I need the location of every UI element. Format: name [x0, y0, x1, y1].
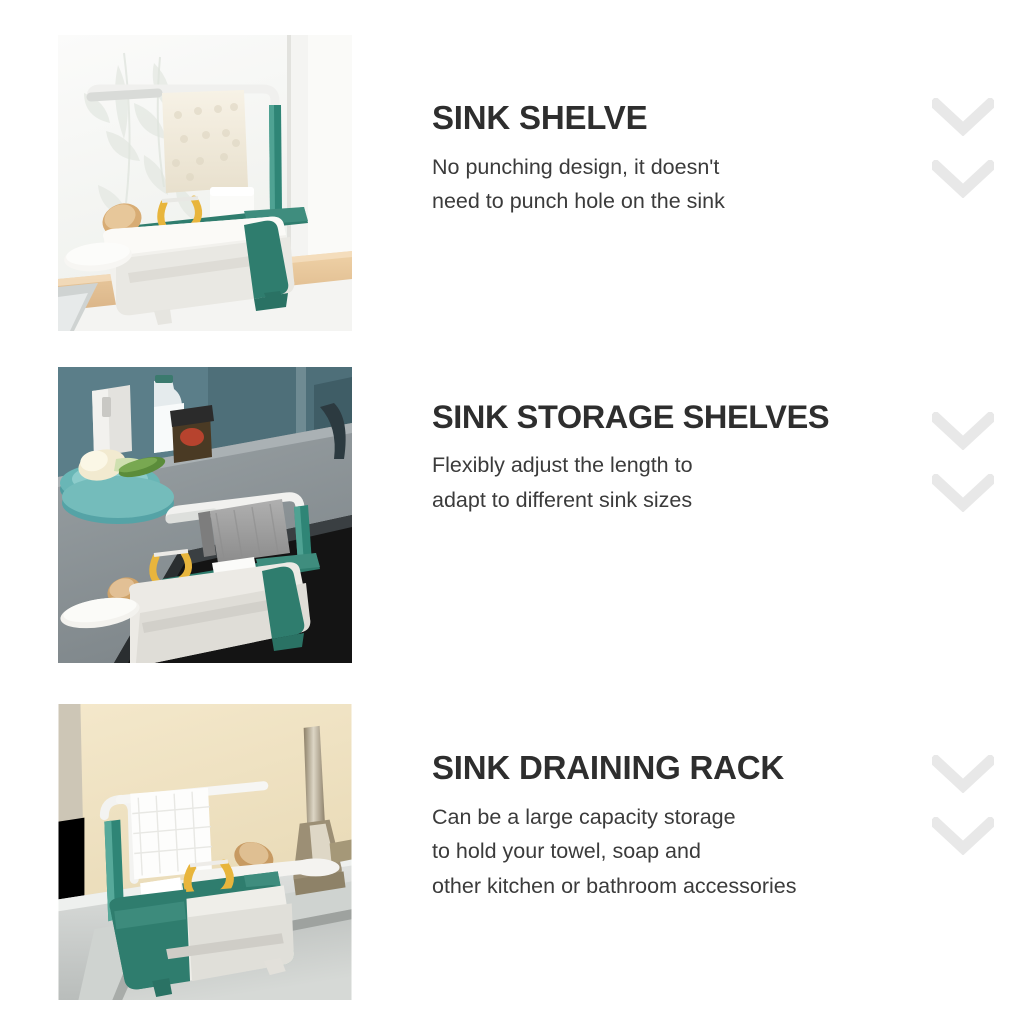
feature-desc-1: No punching design, it doesn't need to p…	[432, 150, 922, 220]
feature-row-3: SINK DRAINING RACK Can be a large capaci…	[0, 704, 1024, 1001]
feature-text-3: SINK DRAINING RACK Can be a large capaci…	[432, 704, 922, 904]
feature-text-2: SINK STORAGE SHELVES Flexibly adjust the…	[432, 367, 922, 518]
desc-line: No punching design, it doesn't	[432, 150, 922, 185]
desc-line: Flexibly adjust the length to	[432, 448, 922, 483]
chevron-down-icon	[932, 474, 994, 512]
desc-line: other kitchen or bathroom accessories	[432, 869, 922, 904]
chevron-group-2	[932, 412, 994, 512]
sink-storage-shelves-counter-photo	[58, 367, 352, 663]
desc-line: adapt to different sink sizes	[432, 483, 922, 518]
feature-desc-2: Flexibly adjust the length to adapt to d…	[432, 448, 922, 518]
sink-draining-rack-steel-sink-photo	[58, 704, 352, 1000]
feature-title-1: SINK SHELVE	[432, 101, 922, 136]
feature-title-2: SINK STORAGE SHELVES	[432, 400, 922, 434]
chevron-down-icon	[932, 98, 994, 136]
chevron-down-icon	[932, 755, 994, 793]
feature-text-1: SINK SHELVE No punching design, it doesn…	[432, 35, 922, 219]
feature-title-3: SINK DRAINING RACK	[432, 751, 922, 786]
feature-desc-3: Can be a large capacity storage to hold …	[432, 800, 922, 904]
chevron-group-3	[932, 755, 994, 855]
sink-shelve-window-photo	[58, 35, 352, 331]
chevron-down-icon	[932, 817, 994, 855]
chevron-down-icon	[932, 412, 994, 450]
product-infographic: SINK SHELVE No punching design, it doesn…	[0, 0, 1024, 1024]
desc-line: to hold your towel, soap and	[432, 834, 922, 869]
feature-row-1: SINK SHELVE No punching design, it doesn…	[0, 35, 1024, 331]
desc-line: need to punch hole on the sink	[432, 184, 922, 219]
desc-line: Can be a large capacity storage	[432, 800, 922, 835]
feature-row-2: SINK STORAGE SHELVES Flexibly adjust the…	[0, 367, 1024, 663]
chevron-group-1	[932, 98, 994, 198]
chevron-down-icon	[932, 160, 994, 198]
